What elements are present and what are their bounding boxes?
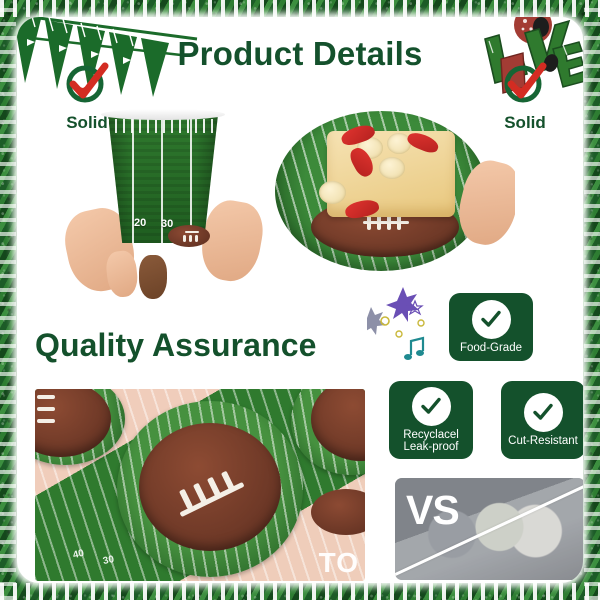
feature-badge-label-line2: Leak-proof [403, 441, 459, 454]
top-hash-marks [0, 0, 600, 17]
cup-rim [101, 109, 225, 120]
feature-badge-cut-resistant: Cut-Resistant [501, 381, 583, 459]
vs-comparison-panel: VS [395, 478, 583, 580]
right-hash-marks [584, 0, 600, 600]
feature-badge-label: Cut-Resistant [504, 435, 582, 448]
check-circle-icon [524, 393, 563, 432]
photo-plates-assortment: 40 30 TO [35, 389, 365, 581]
feature-badge-recyclable: Recyclacel Leak-proof [389, 381, 473, 459]
red-checkmark-circle-icon [499, 61, 551, 107]
photo-plate-with-food [265, 105, 515, 285]
check-circle-icon [472, 300, 511, 339]
vs-label: VS [406, 490, 459, 531]
cup-hash-marks [107, 119, 219, 133]
finger-2 [139, 255, 167, 299]
music-note-icon [404, 338, 424, 360]
plates-yard-number-30: 30 [102, 554, 115, 567]
sparkle-star-icon [367, 307, 386, 335]
photo-football-cup: 20 30 [61, 105, 276, 300]
red-checkmark-circle-icon [61, 61, 113, 107]
content-card: Product Details Solid Solid [17, 17, 583, 583]
banana-slice [379, 157, 405, 179]
bottom-hash-marks [0, 583, 600, 600]
cup-yard-number-20: 20 [134, 217, 146, 229]
plates-overlay-text: TO [319, 547, 359, 579]
section-title-quality: Quality Assurance [35, 327, 317, 364]
sparkle-decorations [367, 279, 459, 371]
left-hash-marks [0, 0, 16, 600]
feature-badge-label: Food-Grade [456, 342, 526, 355]
cup-yard-number-30: 30 [161, 218, 173, 230]
product-details-infographic: Product Details Solid Solid [0, 0, 600, 600]
feature-badge-food-grade: Food-Grade [449, 293, 533, 361]
feature-badge-label-line1: Recyclacel [403, 429, 459, 442]
banana-slice [319, 181, 346, 204]
check-circle-icon [412, 387, 451, 426]
